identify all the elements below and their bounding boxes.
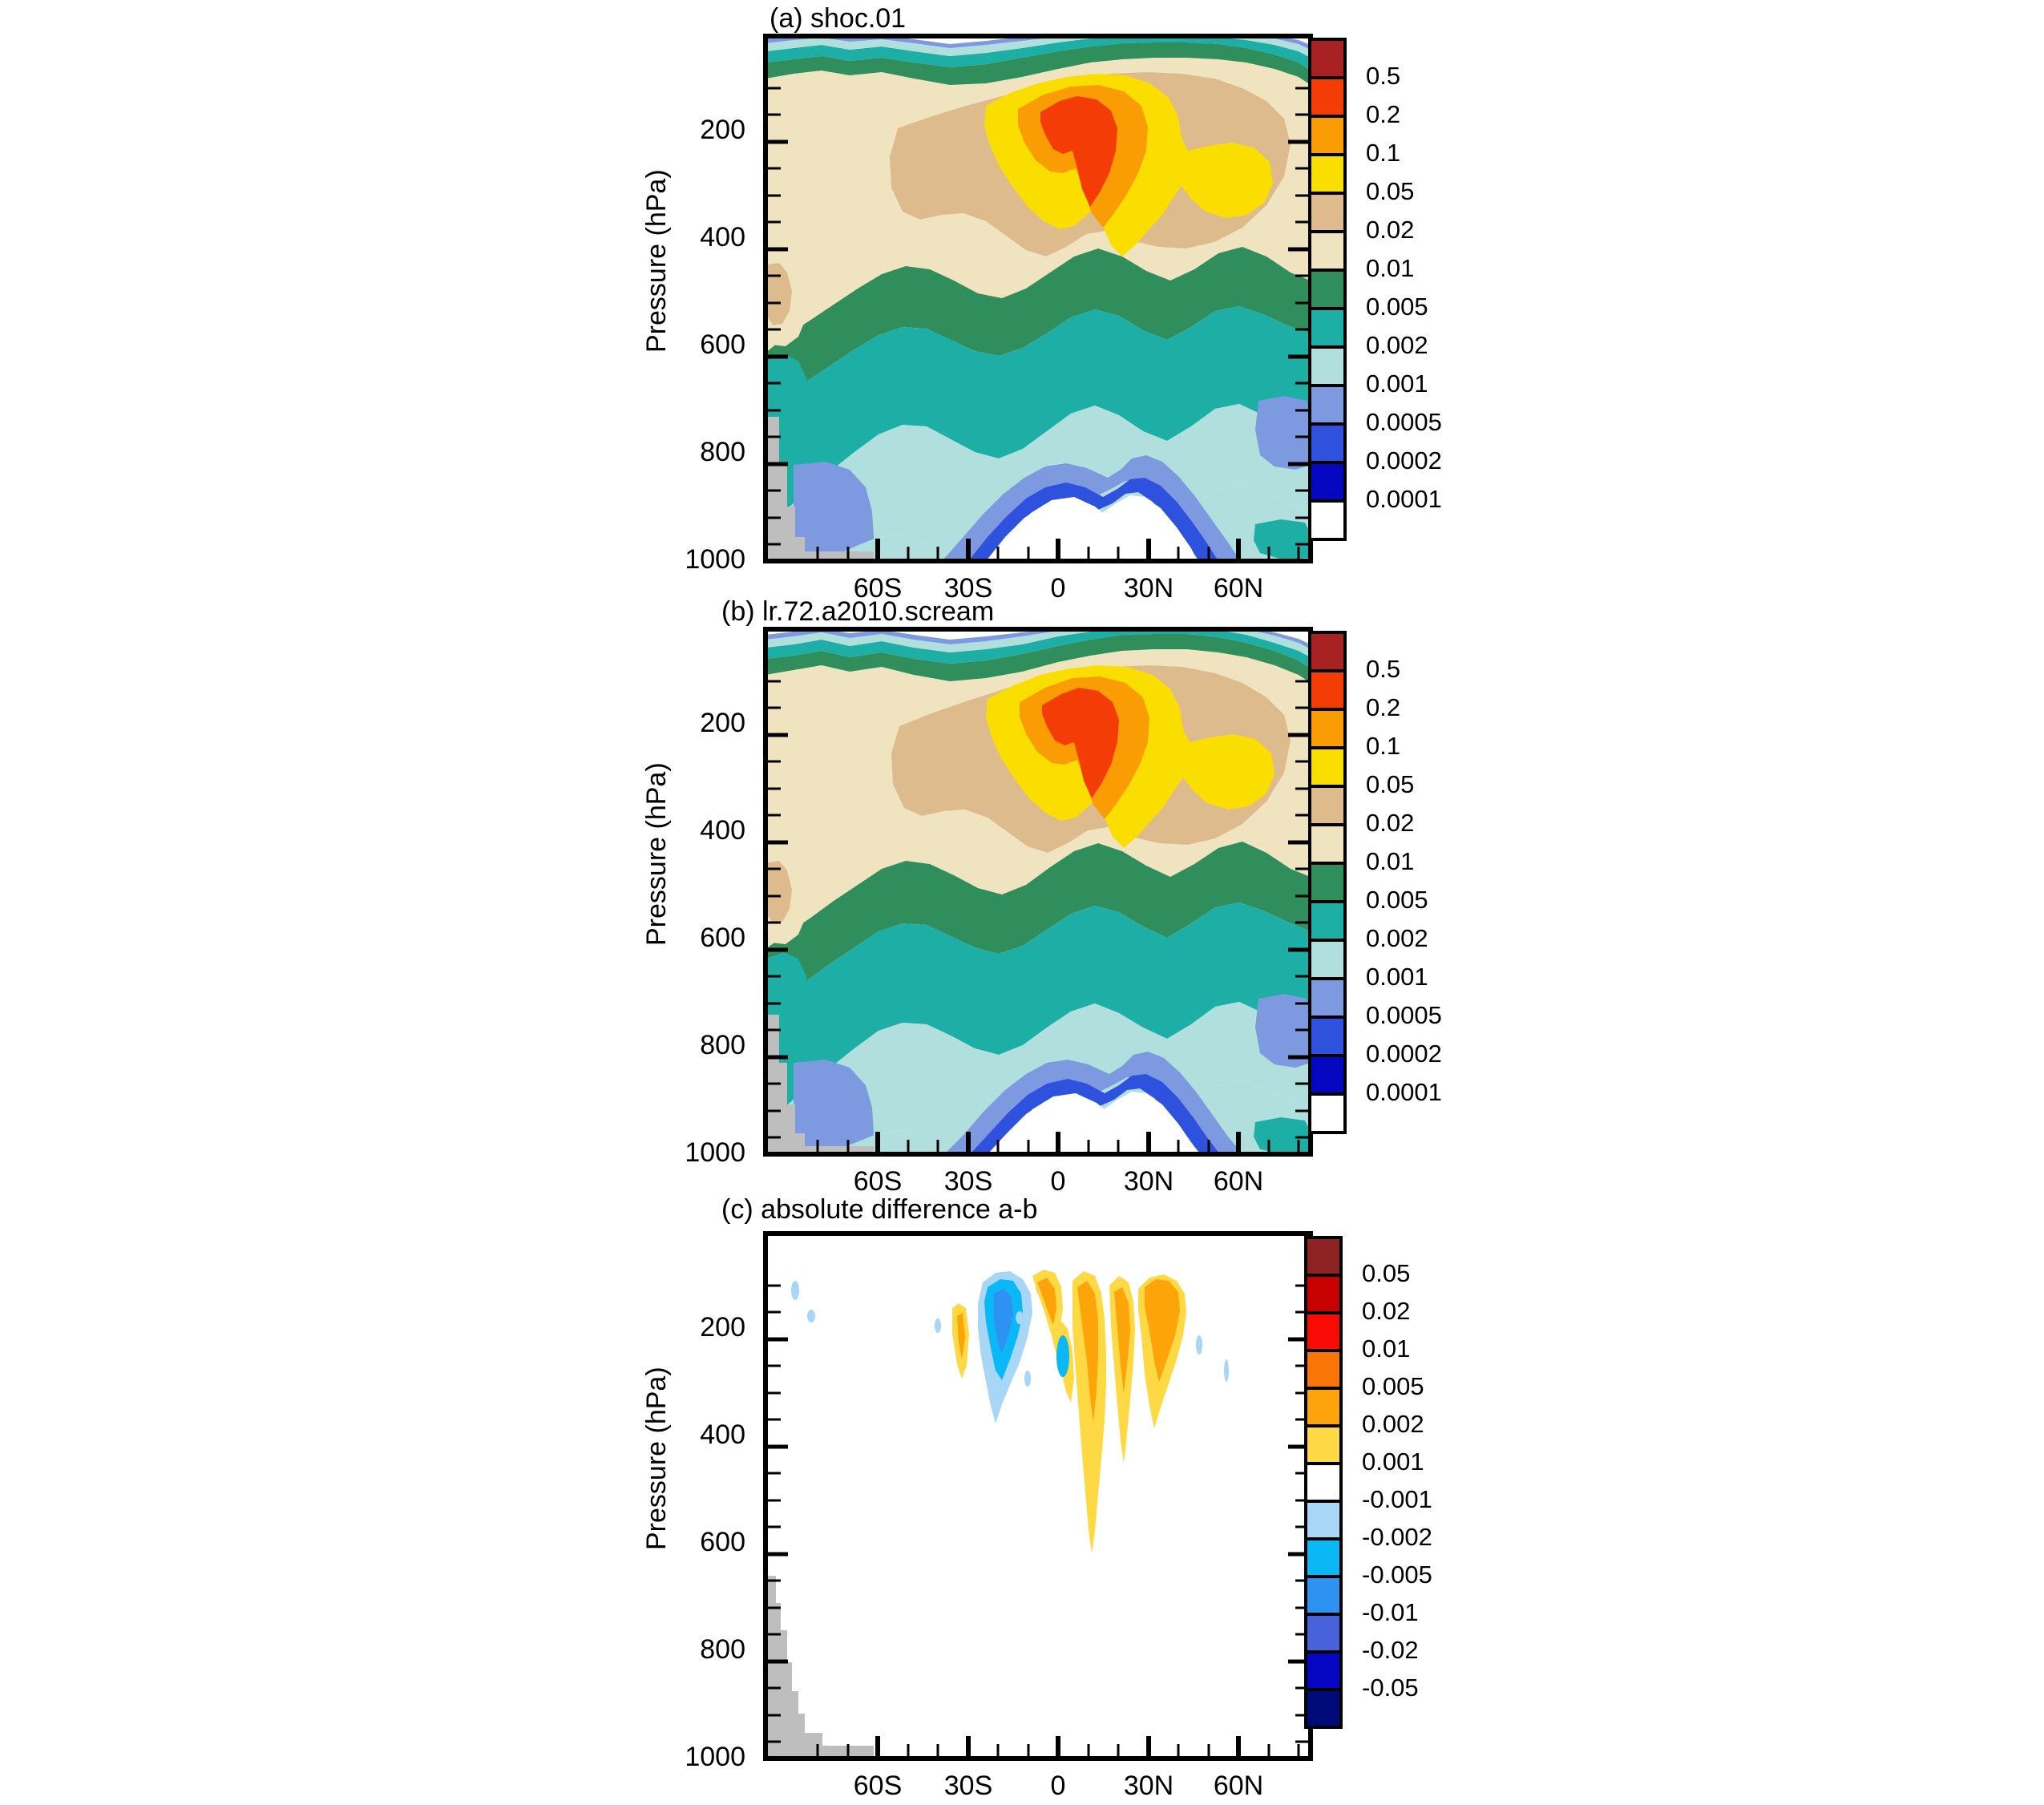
colorbar-swatch[interactable] [1310,347,1345,386]
colorbar-level-label: 0.0005 [1366,1001,1494,1030]
panel-c-ylabel: Pressure (hPa) [641,1367,673,1550]
colorbar-swatch[interactable] [1310,825,1345,863]
colorbar-level-label: 0.005 [1366,293,1494,321]
colorbar-level-label: -0.05 [1362,1674,1490,1702]
panel-a-ytick-400: 400 [665,222,745,253]
colorbar-swatch[interactable] [1310,902,1345,940]
colorbar-level-label: 0.2 [1366,693,1494,722]
colorbar-swatch[interactable] [1310,78,1345,116]
panel-c-ytick-1000: 1000 [649,1742,745,1773]
colorbar-swatch[interactable] [1310,1094,1345,1133]
panel-b-ytick-800: 800 [665,1030,745,1061]
colorbar-swatch[interactable] [1306,1690,1341,1727]
colorbar-swatch[interactable] [1310,863,1345,902]
colorbar-swatch[interactable] [1306,1464,1341,1501]
colorbar-level-label: 0.2 [1366,100,1494,129]
colorbar-level-label: -0.001 [1362,1485,1490,1514]
colorbar-level-label: 0.002 [1366,924,1494,953]
colorbar-swatch[interactable] [1310,309,1345,347]
colorbar-level-label: 0.01 [1362,1335,1490,1363]
panel-a-contour-field [765,28,1311,561]
panel-c-colorbar[interactable] [1303,1234,1359,1787]
panel-c-ytick-400: 400 [665,1419,745,1451]
colorbar-level-label: -0.005 [1362,1561,1490,1589]
panel-b-ytick-200: 200 [665,708,745,739]
colorbar-level-label: 0.001 [1366,963,1494,991]
panel-b: (b) lr.72.a2010.scream Pressure (hPa) 20… [0,593,2044,1202]
colorbar-level-label: 0.002 [1362,1410,1490,1439]
colorbar-swatch[interactable] [1310,1017,1345,1056]
panel-c-ytick-600: 600 [665,1527,745,1558]
panel-a-ytick-200: 200 [665,115,745,146]
panel-c-contour-field [765,1234,1311,1759]
colorbar-swatch[interactable] [1310,786,1345,825]
colorbar-swatch[interactable] [1310,424,1345,462]
colorbar-level-label: 0.02 [1366,216,1494,244]
colorbar-swatch[interactable] [1306,1313,1341,1351]
colorbar-swatch[interactable] [1310,1056,1345,1094]
colorbar-swatch[interactable] [1306,1238,1341,1275]
colorbar-swatch[interactable] [1310,386,1345,424]
panel-a-ytick-1000: 1000 [649,544,745,575]
colorbar-level-label: -0.02 [1362,1636,1490,1665]
panel-b-ytick-600: 600 [665,923,745,954]
colorbar-swatch[interactable] [1310,501,1345,539]
panel-c-ytick-200: 200 [665,1312,745,1343]
colorbar-level-label: 0.05 [1366,177,1494,206]
colorbar-swatch[interactable] [1306,1275,1341,1313]
panel-b-contour-field [765,621,1311,1154]
panel-a: (a) shoc.01 Pressure (hPa) 200 400 600 8… [0,0,2044,609]
figure-root: (a) shoc.01 Pressure (hPa) 200 400 600 8… [0,0,2044,1805]
panel-a-ytick-800: 800 [665,437,745,468]
panel-c-ytick-800: 800 [665,1634,745,1666]
colorbar-swatch[interactable] [1306,1501,1341,1539]
panel-a-ylabel: Pressure (hPa) [641,169,673,353]
colorbar-swatch[interactable] [1310,940,1345,979]
colorbar-swatch[interactable] [1306,1539,1341,1577]
panel-b-ytick-400: 400 [665,815,745,846]
colorbar-swatch[interactable] [1310,979,1345,1017]
colorbar-swatch[interactable] [1310,155,1345,193]
colorbar-swatch[interactable] [1310,232,1345,270]
panel-b-ytick-1000: 1000 [649,1137,745,1169]
colorbar-swatch[interactable] [1310,193,1345,232]
colorbar-swatch[interactable] [1306,1351,1341,1388]
colorbar-swatch[interactable] [1306,1652,1341,1690]
colorbar-level-label: 0.02 [1362,1297,1490,1326]
colorbar-level-label: 0.5 [1366,62,1494,91]
panel-b-plot [745,609,1355,1170]
panel-a-colorbar[interactable] [1307,36,1363,565]
colorbar-level-label: 0.5 [1366,655,1494,684]
colorbar-swatch[interactable] [1310,116,1345,155]
colorbar-level-label: 0.001 [1366,369,1494,398]
panel-b-ylabel: Pressure (hPa) [641,762,673,946]
panel-c-plot [745,1213,1355,1783]
colorbar-level-label: 0.005 [1366,886,1494,915]
colorbar-level-label: 0.1 [1366,732,1494,761]
colorbar-swatch[interactable] [1306,1577,1341,1614]
colorbar-swatch[interactable] [1310,39,1345,78]
panel-a-ytick-600: 600 [665,329,745,361]
colorbar-swatch[interactable] [1306,1614,1341,1652]
colorbar-level-label: -0.01 [1362,1598,1490,1627]
colorbar-level-label: 0.002 [1366,331,1494,360]
colorbar-swatch[interactable] [1306,1426,1341,1464]
colorbar-level-label: 0.0002 [1366,446,1494,475]
panel-c: (c) absolute difference a-b Pressure (hP… [0,1188,2044,1805]
colorbar-swatch[interactable] [1306,1388,1341,1426]
colorbar-level-label: 0.0002 [1366,1040,1494,1068]
colorbar-level-label: 0.1 [1366,139,1494,168]
colorbar-level-label: 0.0005 [1366,408,1494,437]
colorbar-swatch[interactable] [1310,709,1345,748]
panel-a-plot [745,16,1355,577]
colorbar-level-label: 0.01 [1366,254,1494,283]
colorbar-level-label: 0.0001 [1366,1078,1494,1107]
colorbar-level-label: -0.002 [1362,1523,1490,1552]
colorbar-level-label: 0.05 [1362,1259,1490,1288]
colorbar-level-label: 0.005 [1362,1372,1490,1401]
colorbar-level-label: 0.01 [1366,847,1494,876]
colorbar-swatch[interactable] [1310,748,1345,786]
colorbar-level-label: 0.0001 [1366,485,1494,514]
colorbar-swatch[interactable] [1310,270,1345,309]
colorbar-swatch[interactable] [1310,632,1345,671]
colorbar-level-label: 0.001 [1362,1448,1490,1476]
colorbar-level-label: 0.02 [1366,809,1494,838]
colorbar-swatch[interactable] [1310,671,1345,709]
panel-b-colorbar[interactable] [1307,629,1363,1158]
colorbar-swatch[interactable] [1310,462,1345,501]
colorbar-level-label: 0.05 [1366,770,1494,799]
